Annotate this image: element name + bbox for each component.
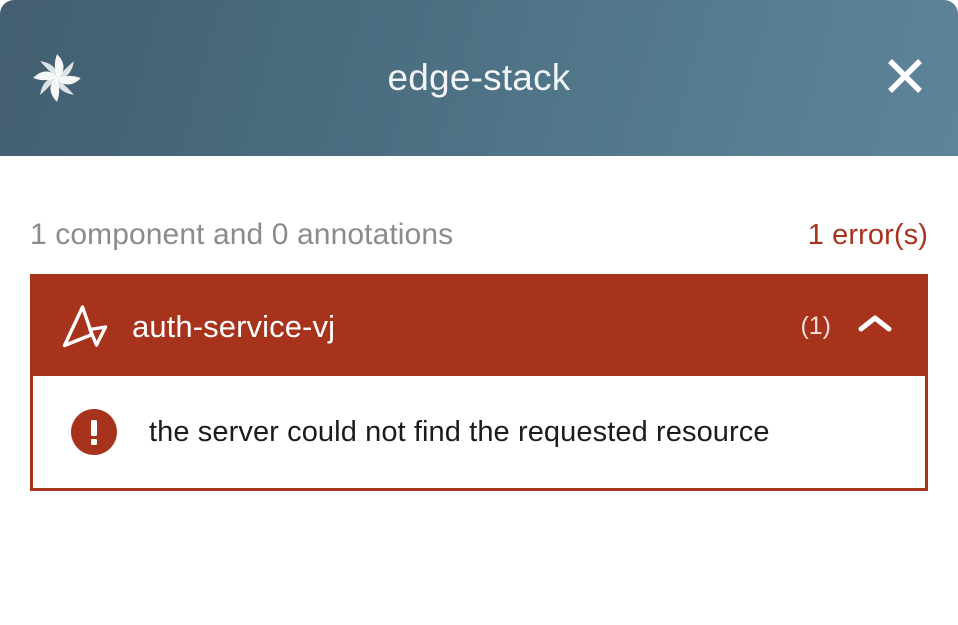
error-message: the server could not find the requested … [149,416,770,449]
component-name: auth-service-vj [132,309,335,345]
error-exclamation-icon [71,409,117,455]
dialog-body: 1 component and 0 annotations 1 error(s)… [0,156,958,491]
error-count-label: 1 error(s) [808,219,928,252]
summary-label: 1 component and 0 annotations [30,218,453,252]
argo-triangle-icon [60,304,110,350]
dialog-title: edge-stack [0,57,958,99]
component-error-badge: (1) [800,312,831,341]
error-list: the server could not find the requested … [33,376,925,488]
close-icon [884,55,926,102]
error-list-item: the server could not find the requested … [33,409,925,455]
ambassador-pinwheel-logo-icon [30,51,84,105]
component-group: auth-service-vj (1) [30,274,928,491]
dialog-titlebar: edge-stack [0,0,958,156]
chevron-up-icon [857,312,893,341]
close-button[interactable] [882,55,928,101]
component-header-auth-service-vj[interactable]: auth-service-vj (1) [33,277,925,376]
summary-row: 1 component and 0 annotations 1 error(s) [30,156,928,274]
edge-stack-dialog: edge-stack 1 component and 0 annotations… [0,0,958,625]
collapse-toggle-button[interactable] [853,305,897,349]
